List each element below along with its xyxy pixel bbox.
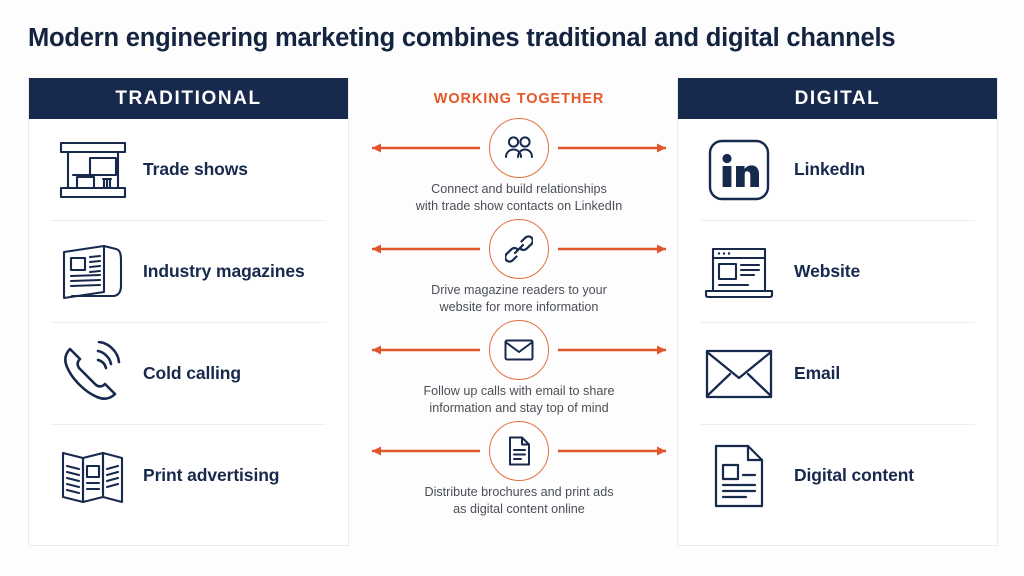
browser-laptop-icon (700, 236, 778, 308)
chain-link-icon (505, 235, 533, 263)
list-item[interactable]: Email (700, 323, 975, 425)
linkedin-icon (700, 134, 778, 206)
connection-arrows (360, 220, 678, 278)
connection-node[interactable] (489, 421, 549, 481)
connection-caption-line2: as digital content online (372, 501, 666, 518)
connection-caption-line1: Follow up calls with email to share (372, 383, 666, 400)
connection-arrows (360, 422, 678, 480)
envelope-icon (504, 338, 534, 362)
phone-ringing-icon (51, 338, 135, 410)
traditional-row-list: Trade shows Industry magazines (29, 119, 348, 526)
list-item-label: Website (794, 261, 860, 282)
list-item[interactable]: LinkedIn (700, 119, 975, 221)
trade-show-booth-icon (51, 134, 135, 206)
list-item-label: Email (794, 363, 840, 384)
connection-caption-line1: Distribute brochures and print ads (372, 484, 666, 501)
list-item-label: Trade shows (143, 159, 248, 180)
brochure-icon (51, 440, 135, 512)
connection-row: Follow up calls with email to share info… (360, 321, 678, 422)
digital-panel-header: DIGITAL (678, 78, 997, 119)
arrow-right-icon (558, 445, 676, 457)
list-item[interactable]: Industry magazines (51, 221, 326, 323)
arrow-left-icon (362, 243, 480, 255)
working-together-header: WORKING TOGETHER (360, 78, 678, 119)
connection-caption-line1: Drive magazine readers to your (372, 282, 666, 299)
connection-row: Distribute brochures and print ads as di… (360, 422, 678, 523)
working-together-column: WORKING TOGETHER Connect and build (360, 78, 678, 546)
connection-caption-line2: information and stay top of mind (372, 400, 666, 417)
connection-arrows (360, 119, 678, 177)
list-item[interactable]: Cold calling (51, 323, 326, 425)
traditional-panel: TRADITIONAL Trade shows (28, 78, 349, 546)
list-item[interactable]: Website (700, 221, 975, 323)
page-title: Modern engineering marketing combines tr… (28, 24, 1008, 53)
list-item-label: LinkedIn (794, 159, 865, 180)
document-page-icon (700, 440, 778, 512)
traditional-panel-header: TRADITIONAL (29, 78, 348, 119)
envelope-icon (700, 338, 778, 410)
arrow-left-icon (362, 142, 480, 154)
magazine-icon (51, 236, 135, 308)
digital-panel: DIGITAL LinkedIn (677, 78, 998, 546)
connection-caption: Distribute brochures and print ads as di… (360, 484, 678, 518)
list-item-label: Industry magazines (143, 261, 305, 282)
arrow-left-icon (362, 344, 480, 356)
arrow-right-icon (558, 344, 676, 356)
list-item[interactable]: Digital content (700, 425, 975, 526)
connection-caption-line1: Connect and build relationships (372, 181, 666, 198)
connection-row: Drive magazine readers to your website f… (360, 220, 678, 321)
arrow-right-icon (558, 142, 676, 154)
connection-arrows (360, 321, 678, 379)
connection-row: Connect and build relationships with tra… (360, 119, 678, 220)
connection-caption: Follow up calls with email to share info… (360, 383, 678, 417)
people-icon (504, 135, 534, 161)
list-item-label: Print advertising (143, 465, 279, 486)
connection-caption-line2: website for more information (372, 299, 666, 316)
list-item[interactable]: Trade shows (51, 119, 326, 221)
connection-caption: Drive magazine readers to your website f… (360, 282, 678, 316)
connection-node[interactable] (489, 118, 549, 178)
arrow-left-icon (362, 445, 480, 457)
digital-row-list: LinkedIn Website (678, 119, 997, 526)
connection-caption: Connect and build relationships with tra… (360, 181, 678, 215)
arrow-right-icon (558, 243, 676, 255)
document-icon (507, 436, 531, 466)
connection-node[interactable] (489, 320, 549, 380)
list-item-label: Digital content (794, 465, 914, 486)
list-item-label: Cold calling (143, 363, 241, 384)
connection-caption-line2: with trade show contacts on LinkedIn (372, 198, 666, 215)
list-item[interactable]: Print advertising (51, 425, 326, 526)
connection-node[interactable] (489, 219, 549, 279)
